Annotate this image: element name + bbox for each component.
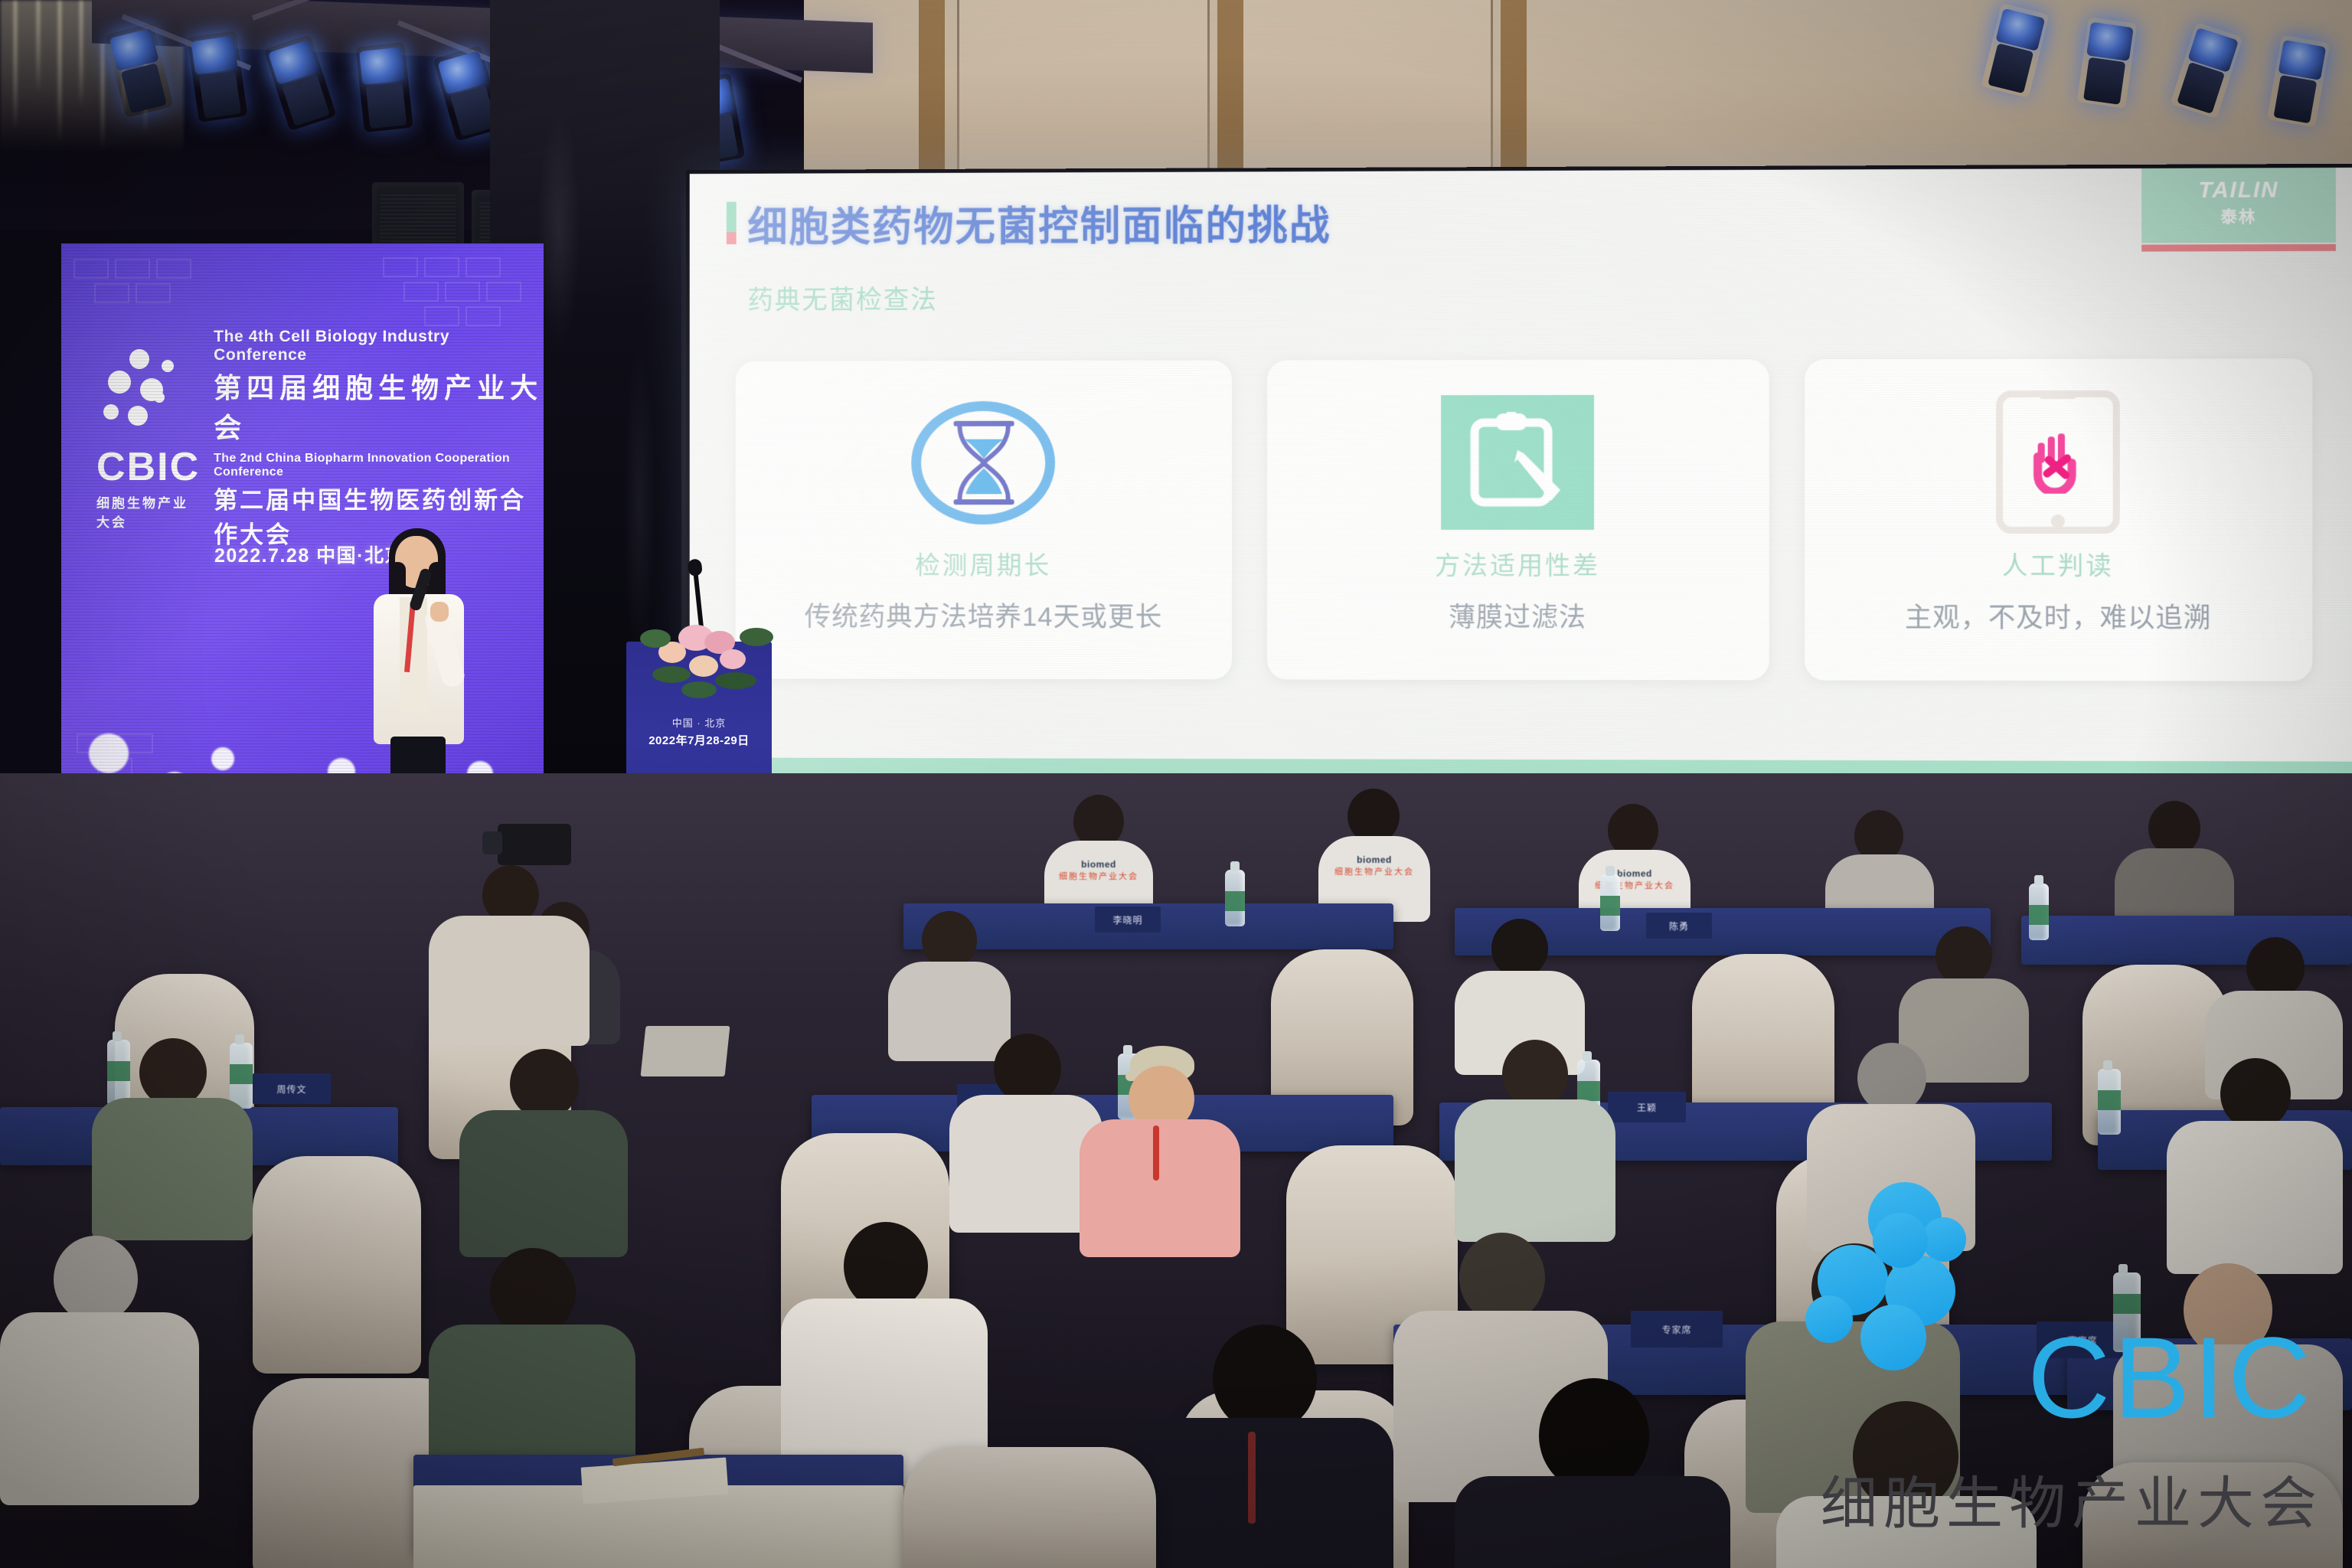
audience-member <box>1807 1043 1975 1254</box>
name-placard: 王颖 <box>1608 1092 1686 1122</box>
audience-member <box>1133 1325 1393 1568</box>
card-heading: 方法适用性差 <box>1435 545 1600 582</box>
name-placard: 陈勇 <box>1646 913 1712 939</box>
audience-member <box>781 1222 988 1482</box>
chair <box>2082 1462 2343 1568</box>
video-camera <box>498 824 571 865</box>
audience-member <box>1080 1046 1240 1253</box>
card-icon-wrap <box>1981 394 2135 530</box>
backdrop-wordmark: CBIC <box>96 447 200 487</box>
audience-member <box>1455 1040 1615 1246</box>
slide-title: 细胞类药物无菌控制面临的挑战 <box>747 194 1331 253</box>
chair <box>903 1447 1156 1568</box>
tailin-logo: TAILIN 泰林 <box>2141 167 2336 243</box>
water-bottle <box>2029 884 2049 940</box>
shirt-bottom-text: 细胞生物产业大会 <box>1041 870 1156 882</box>
water-bottle <box>2098 1069 2121 1135</box>
card-icon-wrap <box>907 396 1059 530</box>
audience-member: biomed细胞生物产业大会 <box>1317 789 1432 911</box>
slide-subtitle: 药典无菌检查法 <box>747 279 937 316</box>
tailin-name-en: TAILIN <box>2199 178 2279 204</box>
challenge-card: 人工判读 主观，不及时，难以追溯 <box>1805 358 2312 681</box>
card-icon-wrap <box>1441 395 1594 530</box>
staff-shirt-logo: biomed 细胞生物产业大会 <box>1041 859 1156 882</box>
audience-member: biomed 细胞生物产业大会 <box>1041 795 1156 910</box>
clipboard-pen-icon <box>1441 395 1594 530</box>
backdrop-line-en-2: The 2nd China Biopharm Innovation Cooper… <box>214 452 544 479</box>
backdrop-wordmark-sub: 细胞生物产业大会 <box>96 492 200 531</box>
backdrop-line-en-1: The 4th Cell Biology Industry Conference <box>214 328 544 364</box>
audience-member <box>2167 1058 2343 1277</box>
placard-text: 李晓明 <box>1112 913 1142 926</box>
tablet-hand-icon <box>1996 390 2120 534</box>
backdrop-logo: CBIC 细胞生物产业大会 The 4th Cell Biology Indus… <box>96 328 544 550</box>
placard-text: 陈勇 <box>1669 920 1689 933</box>
audience-member <box>92 1038 253 1243</box>
tailin-name-cn: 泰林 <box>2221 204 2257 227</box>
audience-member <box>1455 1378 1730 1568</box>
card-heading: 检测周期长 <box>915 545 1051 582</box>
flower-arrangement <box>625 622 786 714</box>
placard-text: 王颖 <box>1637 1101 1657 1114</box>
molecule-icon <box>103 348 194 447</box>
challenge-card: 方法适用性差 薄膜过滤法 <box>1267 359 1769 680</box>
water-bottle <box>1600 874 1620 931</box>
stage-light <box>355 42 413 132</box>
name-placard: 周传文 <box>253 1073 331 1104</box>
card-body: 传统药典方法培养14天或更长 <box>805 595 1163 634</box>
card-heading: 人工判读 <box>2002 545 2114 582</box>
audience-member <box>1776 1401 2037 1568</box>
lectern-line-1: 中国 · 北京 <box>626 715 772 730</box>
card-body: 薄膜过滤法 <box>1449 596 1586 635</box>
tailin-rule <box>2141 244 2336 252</box>
audience-area: biomed 细胞生物产业大会 biomed细胞生物产业大会 biomed细胞生… <box>0 773 2352 1568</box>
title-accent-bar <box>727 202 737 245</box>
chair <box>253 1156 421 1374</box>
hourglass-icon <box>911 401 1055 524</box>
conference-photo: CBIC 细胞生物产业大会 The 4th Cell Biology Indus… <box>0 0 2352 1568</box>
water-bottle <box>1225 870 1245 926</box>
shirt-top-text: biomed <box>1041 859 1156 870</box>
audience-member <box>0 1236 199 1504</box>
audience-member <box>459 1049 628 1260</box>
challenge-card: 检测周期长 传统药典方法培养14天或更长 <box>736 361 1233 680</box>
name-placard: 专家席 <box>1631 1311 1723 1347</box>
challenge-card-row: 检测周期长 传统药典方法培养14天或更长 <box>736 358 2313 681</box>
camera-operator <box>429 857 590 1041</box>
backdrop-line-cn-1: 第四届细胞生物产业大会 <box>214 366 544 446</box>
laptop <box>641 1026 730 1076</box>
card-body: 主观，不及时，难以追溯 <box>1905 596 2211 635</box>
name-placard: 李晓明 <box>1095 906 1161 933</box>
lectern-line-2: 2022年7月28-29日 <box>626 732 772 748</box>
placard-text: 周传文 <box>276 1083 306 1096</box>
audience-member <box>2113 801 2236 931</box>
